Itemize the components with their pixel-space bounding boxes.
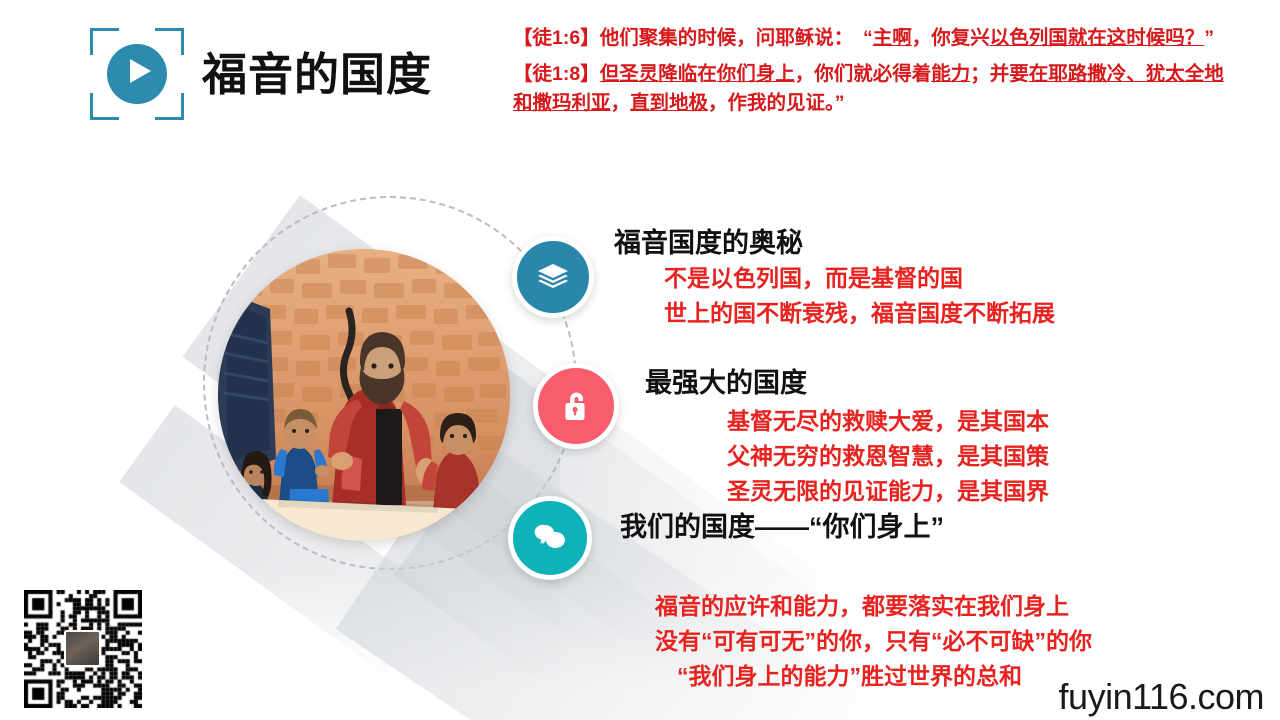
play-triangle-icon (130, 59, 151, 83)
qr-code[interactable] (24, 590, 142, 708)
verse-2-text-b: ，你们就必得着 (795, 63, 932, 85)
section-3-heading: 我们的国度——“你们身上” (620, 505, 944, 544)
section-3-line-1: 福音的应许和能力，都要落实在我们身上 (655, 589, 1092, 624)
verse-2-reference: 【徒1:8】 (513, 63, 600, 85)
brand-logo (90, 28, 184, 120)
section-3-icon-badge[interactable] (508, 496, 592, 580)
section-1-icon-badge[interactable] (512, 236, 594, 318)
section-3-line-2: 没有“可有可无”的你，只有“必不可缺”的你 (655, 624, 1092, 659)
verse-2-underline-a: 但圣灵降临 (600, 63, 698, 85)
section-2-lines: 基督无尽的救赎大爱，是其国本 父神无穷的救恩智慧，是其国策 圣灵无限的见证能力，… (727, 404, 1049, 509)
verse-1-text-c: ” (1204, 27, 1214, 49)
verse-2-underline-e: 直到地极 (630, 92, 708, 114)
verse-1-underline-a: 主啊 (873, 27, 912, 49)
section-2-line-1: 基督无尽的救赎大爱，是其国本 (727, 404, 1049, 439)
page-title: 福音的国度 (202, 38, 432, 103)
unlock-icon (560, 388, 592, 424)
verse-1-text-b: ，你复兴 (912, 27, 990, 49)
section-2-line-3: 圣灵无限的见证能力，是其国界 (727, 474, 1049, 509)
layers-icon (536, 260, 570, 294)
section-2-icon-badge[interactable] (533, 363, 619, 449)
scripture-block: 【徒1:6】他们聚集的时候，问耶稣说： “主啊，你复兴以色列国就在这时候吗？” … (513, 24, 1228, 125)
verse-2-text-e: ，作我的见证。” (708, 92, 845, 114)
verse-2-text-c: ；并要 (970, 63, 1029, 85)
verse-2-underline-b: 你们身上 (717, 63, 795, 85)
moses-illustration-art (218, 249, 510, 541)
section-1-heading: 福音国度的奥秘 (614, 221, 803, 260)
scripture-verse-1: 【徒1:6】他们聚集的时候，问耶稣说： “主啊，你复兴以色列国就在这时候吗？” (513, 24, 1228, 53)
scripture-verse-2: 【徒1:8】但圣灵降临在你们身上，你们就必得着能力；并要在耶路撒冷、犹太全地和撒… (513, 60, 1228, 118)
section-1-lines: 不是以色列国，而是基督的国 世上的国不断衰残，福音国度不断拓展 (664, 261, 1055, 331)
section-3-lines: 福音的应许和能力，都要落实在我们身上 没有“可有可无”的你，只有“必不可缺”的你… (655, 589, 1092, 694)
section-1-line-1: 不是以色列国，而是基督的国 (664, 261, 1055, 296)
illustration-image (218, 249, 510, 541)
qr-code-center-logo (64, 630, 101, 667)
verse-1-underline-b: 以色列国就在这时候吗？ (990, 27, 1205, 49)
section-3-line-3: “我们身上的能力”胜过世界的总和 (677, 659, 1092, 694)
chat-bubbles-icon (533, 523, 567, 553)
verse-2-text-a: 在 (697, 63, 717, 85)
slide-canvas: 福音的国度 【徒1:6】他们聚集的时候，问耶稣说： “主啊，你复兴以色列国就在这… (0, 0, 1280, 720)
section-1-line-2: 世上的国不断衰残，福音国度不断拓展 (664, 296, 1055, 331)
verse-2-text-d: ， (611, 92, 631, 114)
verse-2-underline-c: 能力 (931, 63, 970, 85)
site-watermark: fuyin116.com (1059, 676, 1264, 718)
section-2-line-2: 父神无穷的救恩智慧，是其国策 (727, 439, 1049, 474)
verse-1-reference: 【徒1:6】 (513, 27, 600, 49)
section-2-heading: 最强大的国度 (645, 361, 807, 400)
verse-1-text-a: 他们聚集的时候，问耶稣说： “ (600, 27, 873, 49)
